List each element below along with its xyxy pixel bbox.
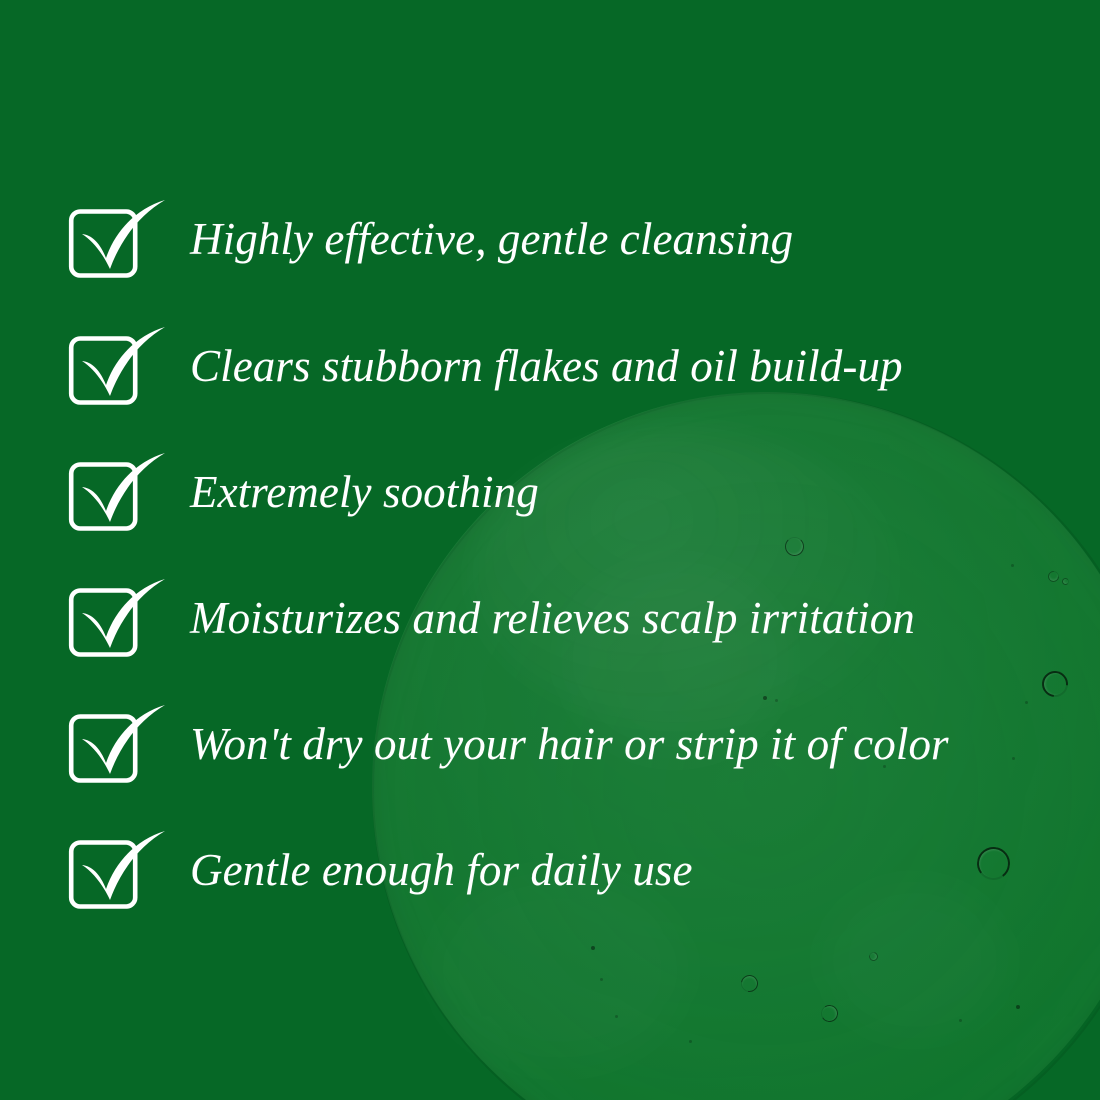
- benefit-row-2: Clears stubborn flakes and oil build-up: [68, 330, 903, 402]
- benefit-row-5: Won't dry out your hair or strip it of c…: [68, 708, 949, 780]
- checkbox-checked-icon: [68, 452, 172, 532]
- checkbox-checked-icon: [68, 578, 172, 658]
- benefit-label: Extremely soothing: [190, 470, 539, 515]
- benefit-label: Gentle enough for daily use: [190, 848, 693, 893]
- checkbox-checked-icon: [68, 830, 172, 910]
- benefit-row-4: Moisturizes and relieves scalp irritatio…: [68, 582, 915, 654]
- benefit-label: Won't dry out your hair or strip it of c…: [190, 722, 949, 767]
- benefit-label: Highly effective, gentle cleansing: [190, 217, 793, 262]
- benefit-row-6: Gentle enough for daily use: [68, 834, 693, 906]
- benefit-row-3: Extremely soothing: [68, 456, 539, 528]
- benefit-row-1: Highly effective, gentle cleansing: [68, 203, 793, 275]
- checkbox-checked-icon: [68, 704, 172, 784]
- benefit-label: Clears stubborn flakes and oil build-up: [190, 344, 903, 389]
- benefits-checklist: Highly effective, gentle cleansing Clear…: [0, 0, 1100, 1100]
- benefit-label: Moisturizes and relieves scalp irritatio…: [190, 596, 915, 641]
- checkbox-checked-icon: [68, 199, 172, 279]
- checkbox-checked-icon: [68, 326, 172, 406]
- product-benefits-panel: Highly effective, gentle cleansing Clear…: [0, 0, 1100, 1100]
